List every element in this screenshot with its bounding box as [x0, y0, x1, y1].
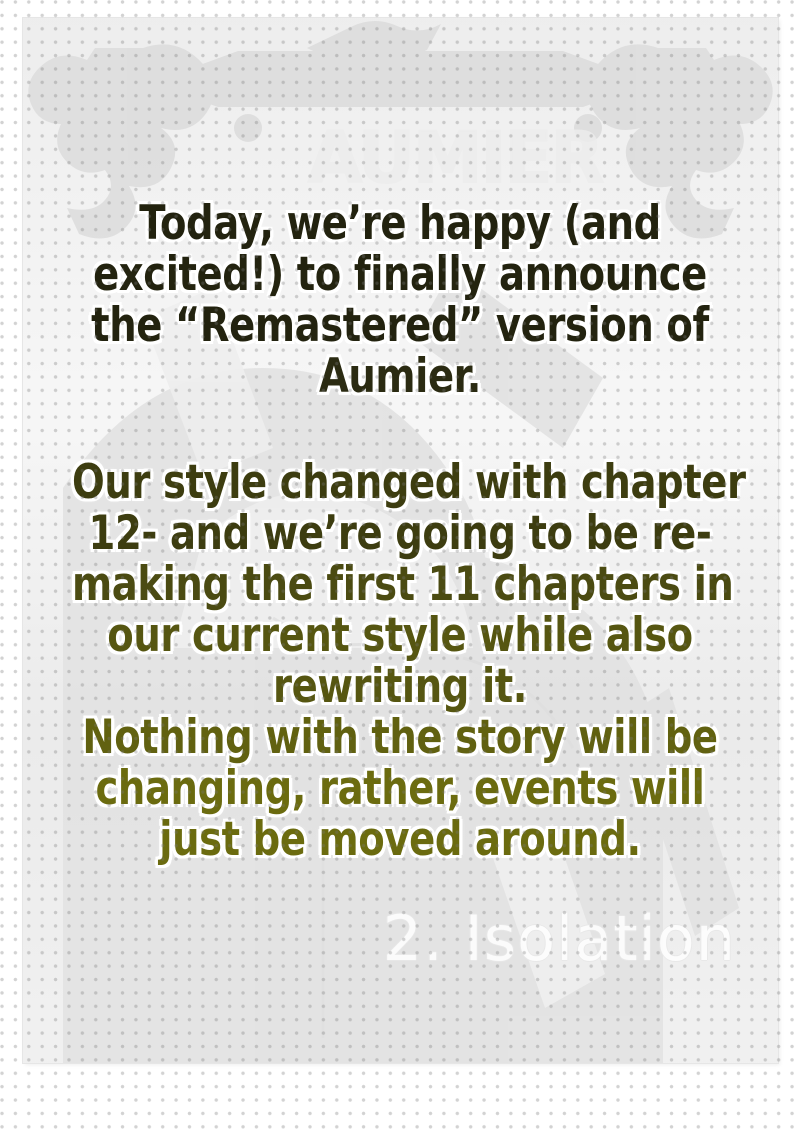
- paragraph-1-line: Aumier.: [72, 351, 728, 402]
- paragraph-spacer: [0, 402, 800, 457]
- paragraph-2-line: Our style changed with chapter: [72, 457, 728, 508]
- paragraph-2-line: Nothing with the story will be: [72, 712, 728, 763]
- paragraph-2-line: just be moved around.: [72, 814, 728, 865]
- announcement-paragraph-1: Today, we’re happy (and excited!) to fin…: [0, 198, 800, 402]
- chapter-title-watermark: 2. Isolation: [383, 902, 736, 975]
- paragraph-2-line: changing, rather, events will: [72, 763, 728, 814]
- paragraph-2-line: rewriting it.: [72, 661, 728, 712]
- announcement-paragraph-2: Our style changed with chapter 12- and w…: [0, 457, 800, 865]
- comic-announcement-page: AUMIER 2. Isolation Today, we’re happy (…: [0, 0, 800, 1131]
- paragraph-1-line: excited!) to finally announce: [72, 249, 728, 300]
- paragraph-2-line: making the first 11 chapters in: [72, 559, 728, 610]
- paragraph-1-line: the “Remastered” version of: [72, 300, 728, 351]
- paragraph-1-line: Today, we’re happy (and: [72, 198, 728, 249]
- announcement-copy: Today, we’re happy (and excited!) to fin…: [0, 0, 800, 865]
- paragraph-2-line: 12- and we’re going to be re-: [72, 508, 728, 559]
- paragraph-2-line: our current style while also: [72, 610, 728, 661]
